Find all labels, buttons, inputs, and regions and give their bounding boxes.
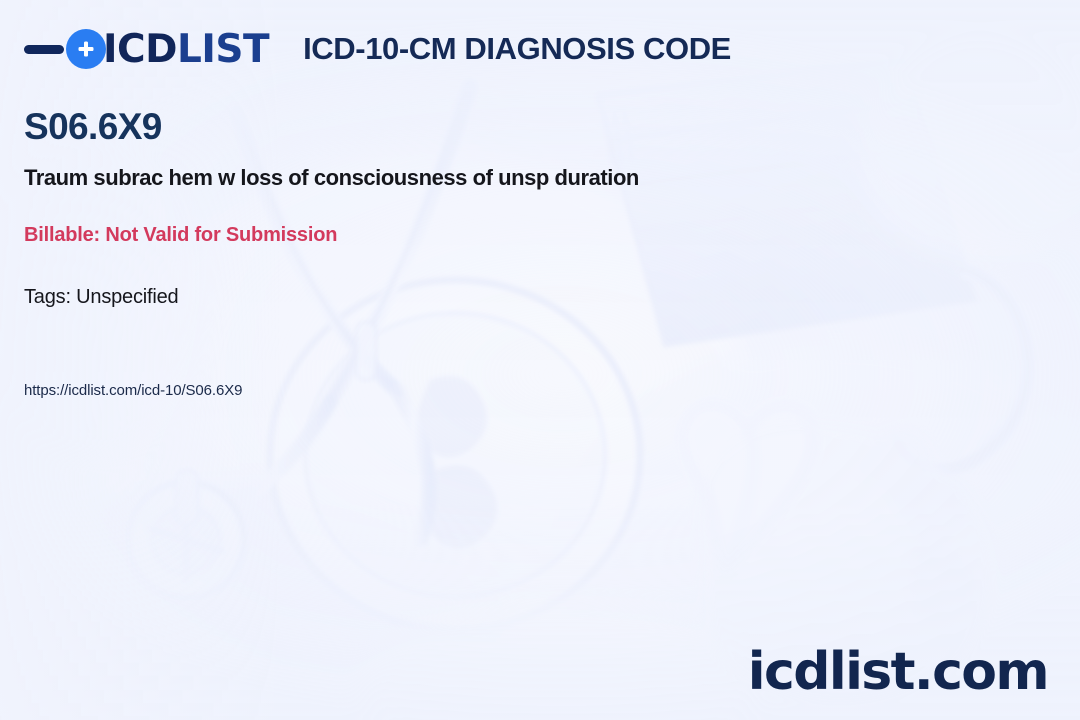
site-watermark: icdlist.com: [748, 646, 1048, 698]
diagnosis-code-card: ICDLIST ICD-10-CM DIAGNOSIS CODE S06.6X9…: [0, 0, 1080, 720]
page-title: ICD-10-CM DIAGNOSIS CODE: [303, 31, 731, 67]
source-url[interactable]: https://icdlist.com/icd-10/S06.6X9: [24, 382, 242, 399]
plus-icon: [66, 29, 106, 69]
logo-text-icd: ICD: [103, 27, 177, 72]
diagnosis-description: Traum subrac hem w loss of consciousness…: [24, 165, 639, 190]
billable-status: Billable: Not Valid for Submission: [24, 224, 337, 247]
diagnosis-code: S06.6X9: [24, 108, 162, 145]
tags-label: Tags: Unspecified: [24, 286, 178, 309]
header: ICDLIST ICD-10-CM DIAGNOSIS CODE: [24, 26, 731, 72]
dash-icon: [24, 45, 64, 54]
card-content: ICDLIST ICD-10-CM DIAGNOSIS CODE S06.6X9…: [0, 0, 1080, 720]
icdlist-logo[interactable]: ICDLIST: [24, 26, 269, 72]
logo-text-list: LIST: [177, 27, 269, 72]
